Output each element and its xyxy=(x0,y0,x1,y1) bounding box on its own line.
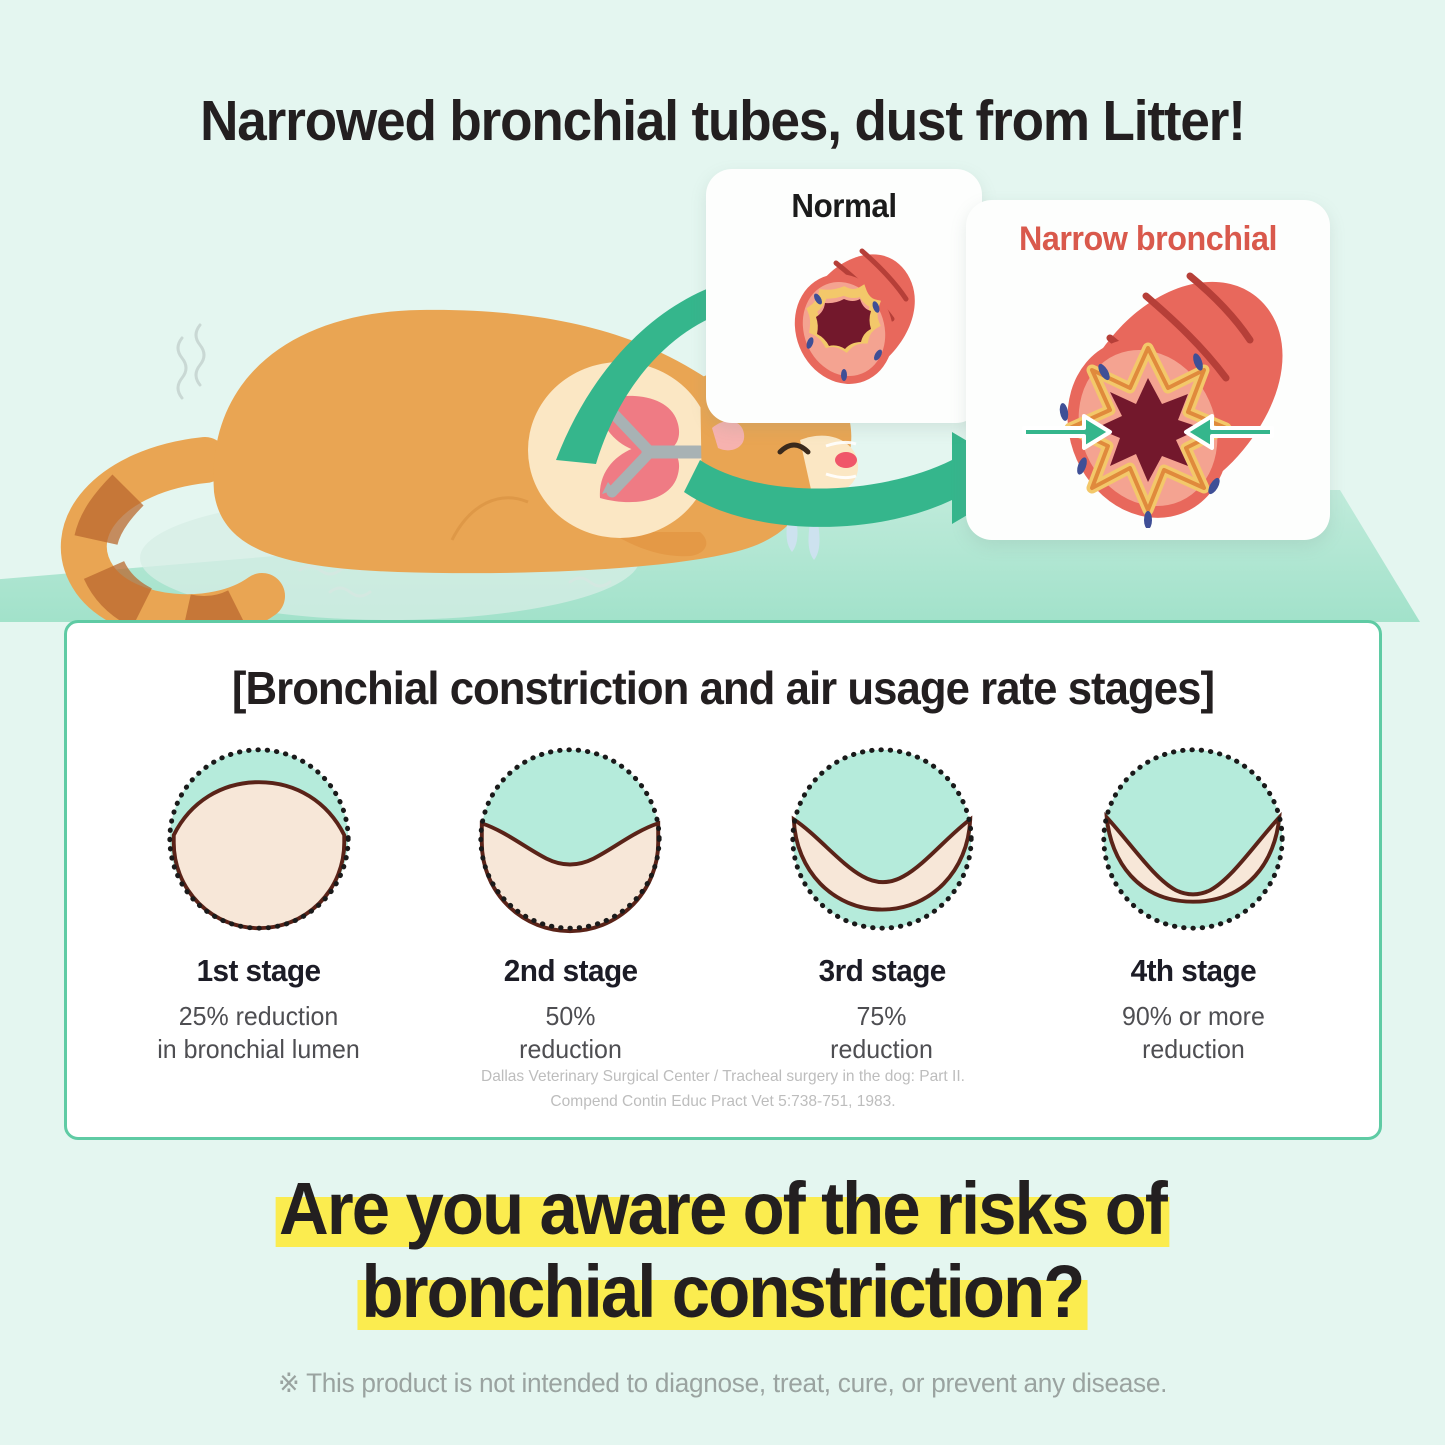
stage-description: 50% reduction xyxy=(519,1000,622,1066)
cta-headline: Are you aware of the risks of bronchial … xyxy=(0,1168,1445,1334)
stage-4-diagram xyxy=(1095,741,1291,937)
stage-3-diagram xyxy=(784,741,980,937)
stage-name: 3rd stage xyxy=(818,953,945,989)
stage-description: 90% or more reduction xyxy=(1122,1000,1265,1066)
card-narrow-bronchial: Narrow bronchial xyxy=(966,200,1330,540)
stage-name: 2nd stage xyxy=(503,953,637,989)
panel-title: [Bronchial constriction and air usage ra… xyxy=(100,661,1346,715)
stage-description: 25% reduction in bronchial lumen xyxy=(157,1000,360,1066)
infographic-root: Narrowed bronchial tubes, dust from Litt… xyxy=(0,0,1445,1445)
card-normal-bronchial: Normal xyxy=(706,169,982,423)
cta-line-1: Are you aware of the risks of xyxy=(51,1168,1395,1251)
stages-row: 1st stage 25% reduction in bronchial lum… xyxy=(103,741,1349,1066)
cta-line-2: bronchial constriction? xyxy=(51,1251,1395,1334)
stages-panel: [Bronchial constriction and air usage ra… xyxy=(64,620,1382,1140)
cta-line-1-text: Are you aware of the risks of xyxy=(275,1168,1169,1251)
stage-2-diagram xyxy=(472,741,668,937)
normal-bronchial-tube-icon xyxy=(752,223,942,409)
stage-item: 3rd stage 75% reduction xyxy=(737,741,1027,1066)
stage-item: 1st stage 25% reduction in bronchial lum… xyxy=(114,741,404,1066)
cta-line-2-text: bronchial constriction? xyxy=(358,1251,1087,1334)
stage-1-diagram xyxy=(161,741,357,937)
card-normal-label: Normal xyxy=(713,187,975,225)
narrow-bronchial-tube-icon xyxy=(998,252,1300,528)
stage-name: 1st stage xyxy=(197,953,321,989)
stage-item: 4th stage 90% or more reduction xyxy=(1048,741,1338,1066)
stage-description: 75% reduction xyxy=(830,1000,933,1066)
disclaimer-text: ※ This product is not intended to diagno… xyxy=(22,1368,1424,1399)
stage-item: 2nd stage 50% reduction xyxy=(425,741,715,1066)
panel-citation: Dallas Veterinary Surgical Center / Trac… xyxy=(87,1065,1360,1115)
stage-name: 4th stage xyxy=(1131,953,1256,989)
page-title: Narrowed bronchial tubes, dust from Litt… xyxy=(51,88,1395,154)
